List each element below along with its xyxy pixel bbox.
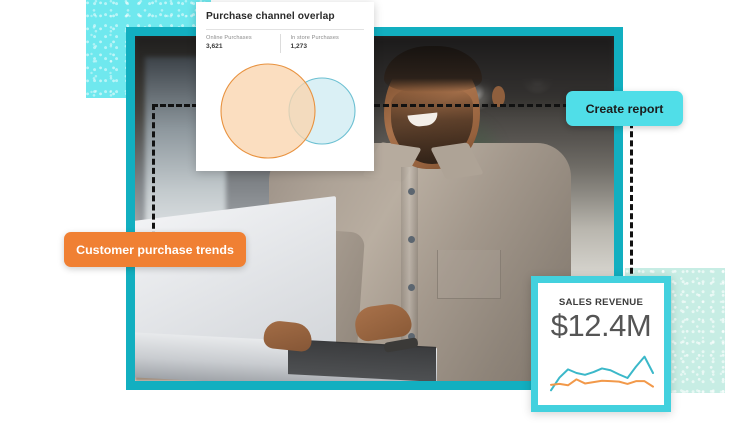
- pill-customer-purchase-trends[interactable]: Customer purchase trends: [64, 232, 246, 267]
- sales-revenue-sparkline: [548, 350, 654, 401]
- connector-line-right-horizontal: [374, 104, 578, 107]
- sales-revenue-value: $12.4M: [548, 309, 654, 344]
- venn-stats-row: Online Purchases 3,621 In store Purchase…: [206, 29, 364, 53]
- venn-diagram: [206, 55, 364, 168]
- pill-label: Create report: [586, 102, 664, 116]
- stat-value: 1,273: [291, 42, 359, 53]
- shirt-button: [408, 188, 415, 195]
- sparkline-svg: [548, 350, 656, 396]
- sales-revenue-label: SALES REVENUE: [548, 297, 654, 308]
- shirt-pocket: [437, 250, 501, 299]
- sales-revenue-card[interactable]: SALES REVENUE $12.4M: [531, 276, 671, 412]
- sales-revenue-inner: SALES REVENUE $12.4M: [538, 283, 664, 405]
- pill-create-report[interactable]: Create report: [566, 91, 683, 126]
- pill-label: Customer purchase trends: [76, 243, 234, 257]
- stat-value: 3,621: [206, 42, 274, 53]
- connector-line-left-horizontal: [152, 104, 198, 107]
- connector-line-left-vertical: [152, 104, 155, 247]
- stat-online-purchases: Online Purchases 3,621: [206, 34, 280, 53]
- purchase-channel-overlap-card[interactable]: Purchase channel overlap Online Purchase…: [196, 2, 374, 171]
- connector-line-right-vertical: [630, 104, 633, 292]
- venn-svg: [206, 55, 364, 163]
- stat-label: Online Purchases: [206, 34, 274, 42]
- stat-in-store-purchases: In store Purchases 1,273: [280, 34, 365, 53]
- hero-illustration: Purchase channel overlap Online Purchase…: [0, 0, 750, 423]
- venn-card-title: Purchase channel overlap: [206, 11, 364, 22]
- sparkline-series-cost: [551, 379, 653, 386]
- venn-circle-online: [221, 64, 315, 158]
- stat-label: In store Purchases: [291, 34, 359, 42]
